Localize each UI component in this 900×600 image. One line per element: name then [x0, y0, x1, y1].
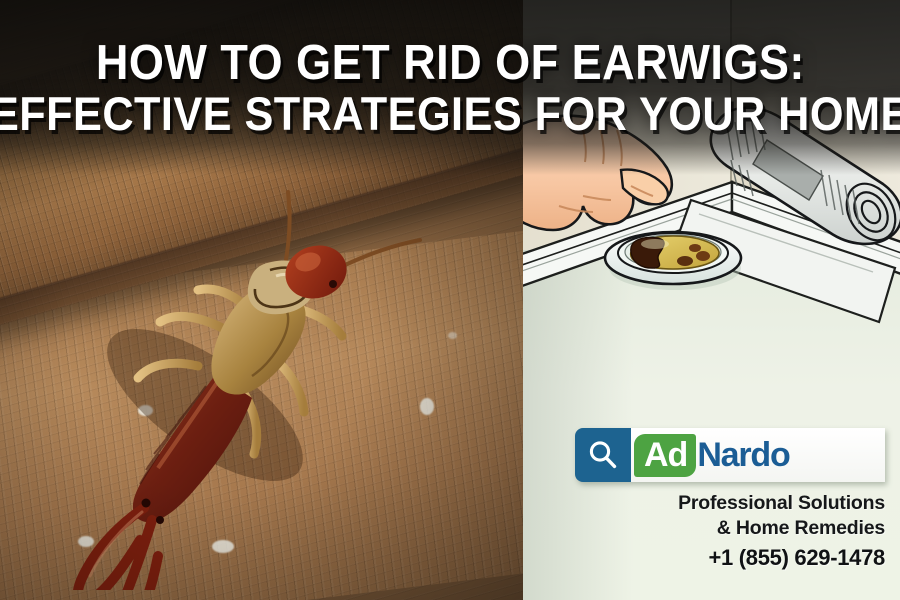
tagline-line-1: Professional Solutions [575, 491, 885, 516]
headline-block: HOW TO GET RID OF EARWIGS: EFFECTIVE STR… [0, 0, 900, 175]
logo[interactable]: Ad Nardo [575, 428, 885, 482]
search-icon [586, 438, 620, 472]
oil-drop [677, 256, 693, 266]
logo-icon-box [575, 428, 631, 482]
oil-drop [696, 251, 710, 261]
phone-number[interactable]: +1 (855) 629-1478 [575, 544, 885, 572]
headline-line-2: EFFECTIVE STRATEGIES FOR YOUR HOME [0, 90, 900, 137]
bait-dish [605, 232, 741, 284]
logo-word-nardo: Nardo [697, 435, 789, 475]
oil-drop [689, 244, 701, 252]
tagline-line-2: & Home Remedies [575, 516, 885, 541]
headline-line-1: HOW TO GET RID OF EARWIGS: [95, 39, 804, 88]
logo-wordmark: Ad Nardo [631, 428, 885, 482]
oil-highlight [641, 239, 669, 249]
logo-word-ad: Ad [634, 434, 696, 477]
brand-block: Ad Nardo Professional Solutions & Home R… [575, 428, 885, 572]
poster-canvas: HOW TO GET RID OF EARWIGS: EFFECTIVE STR… [0, 0, 900, 600]
